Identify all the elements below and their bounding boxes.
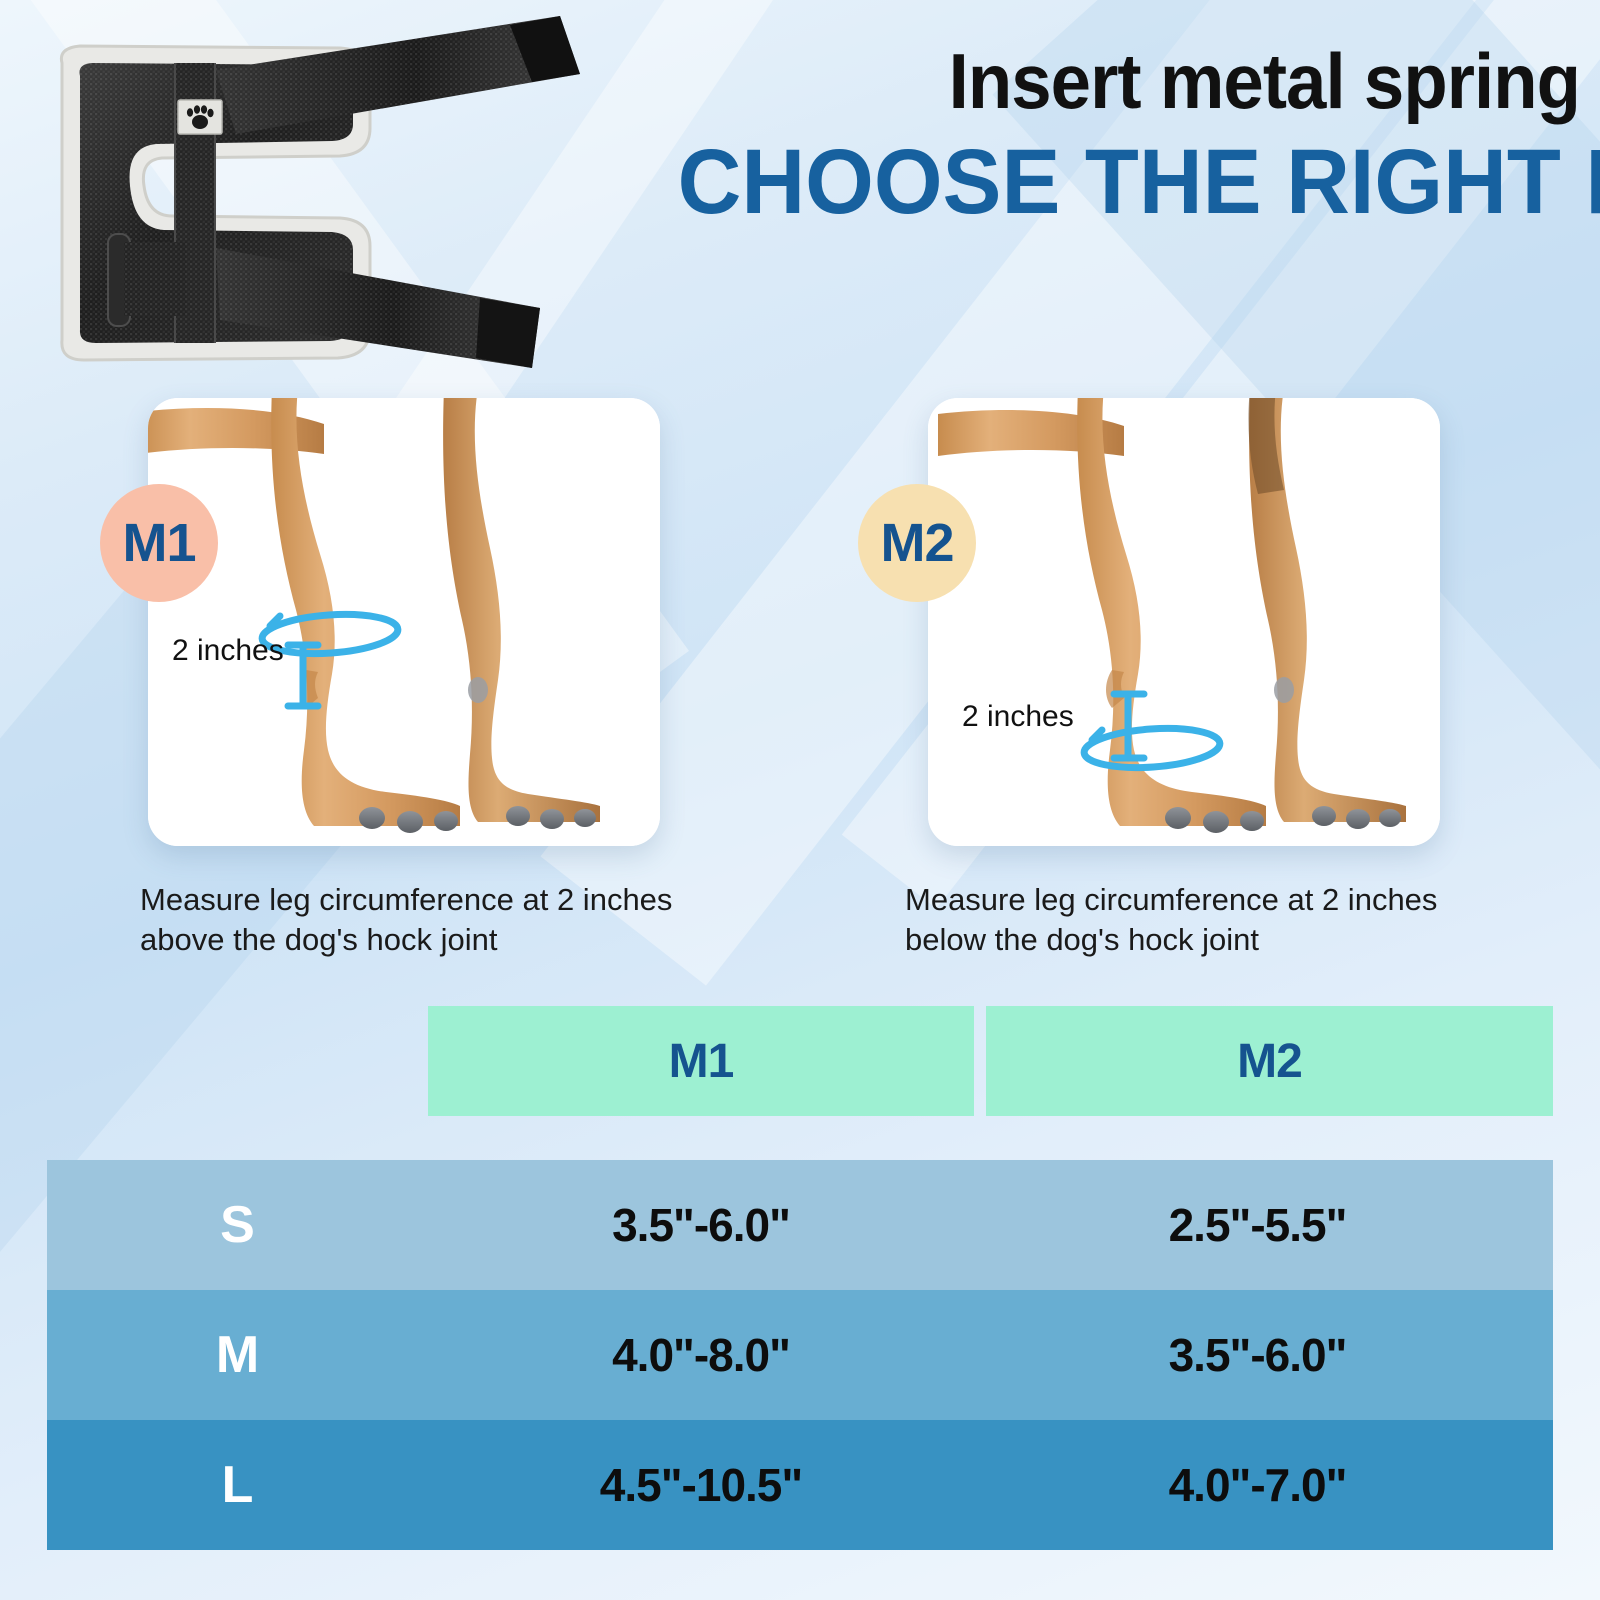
title-line-choose-the-right-fit: CHOOSE THE RIGHT FIT bbox=[678, 134, 1580, 231]
caption-m1: Measure leg circumference at 2 inches ab… bbox=[140, 880, 740, 961]
table-row: M 4.0"-8.0" 3.5"-6.0" bbox=[47, 1290, 1553, 1420]
measure-card-m1 bbox=[148, 398, 660, 846]
table-header-row: M1 M2 bbox=[0, 1006, 1600, 1116]
cell-m2-value: 2.5"-5.5" bbox=[974, 1198, 1541, 1252]
dog-hind-legs-photo-m2 bbox=[928, 398, 1440, 846]
cell-m1-value: 4.5"-10.5" bbox=[428, 1458, 974, 1512]
paw-print-label-icon bbox=[178, 100, 222, 134]
infographic-page: Insert metal spring CHOOSE THE RIGHT FIT bbox=[0, 0, 1600, 1600]
cell-m2-value: 3.5"-6.0" bbox=[974, 1328, 1541, 1382]
cell-size-label: M bbox=[47, 1325, 428, 1385]
cell-m1-value: 4.0"-8.0" bbox=[428, 1328, 974, 1382]
badge-m1: M1 bbox=[100, 484, 218, 602]
table-row: S 3.5"-6.0" 2.5"-5.5" bbox=[47, 1160, 1553, 1290]
badge-m2-label: M2 bbox=[880, 512, 953, 574]
cell-size-label: L bbox=[47, 1455, 428, 1515]
buckle-icon bbox=[108, 234, 186, 326]
table-row: L 4.5"-10.5" 4.0"-7.0" bbox=[47, 1420, 1553, 1550]
dog-hind-legs-photo-m1 bbox=[148, 398, 660, 846]
table-header-m1: M1 bbox=[428, 1006, 974, 1116]
annotation-label-m2: 2 inches bbox=[962, 700, 1074, 734]
title-line-insert-metal-spring: Insert metal spring bbox=[706, 42, 1580, 120]
size-chart-table: M1 M2 S 3.5"-6.0" 2.5"-5.5" M 4.0"-8.0" … bbox=[0, 1006, 1600, 1116]
cell-m2-value: 4.0"-7.0" bbox=[974, 1458, 1541, 1512]
annotation-label-m1: 2 inches bbox=[172, 634, 284, 668]
cell-m1-value: 3.5"-6.0" bbox=[428, 1198, 974, 1252]
measure-card-m2 bbox=[928, 398, 1440, 846]
badge-m1-label: M1 bbox=[122, 512, 195, 574]
brace-illustration bbox=[40, 8, 600, 408]
table-header-m2: M2 bbox=[986, 1006, 1553, 1116]
product-image-dog-leg-brace bbox=[40, 8, 600, 408]
header-title-block: Insert metal spring CHOOSE THE RIGHT FIT bbox=[640, 42, 1580, 231]
caption-m2: Measure leg circumference at 2 inches be… bbox=[905, 880, 1505, 961]
badge-m2: M2 bbox=[858, 484, 976, 602]
cell-size-label: S bbox=[47, 1195, 428, 1255]
